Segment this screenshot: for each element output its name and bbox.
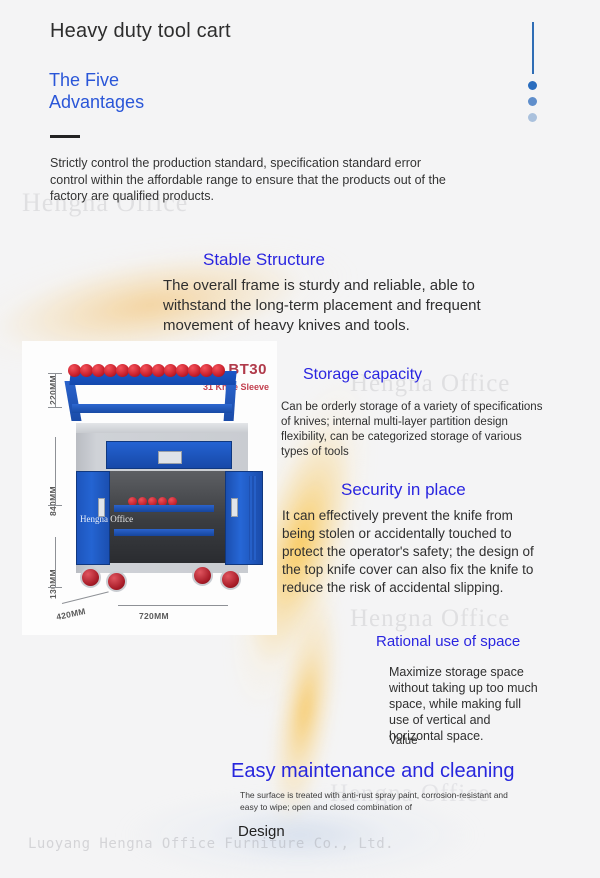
tool-cart-illustration: Hengna Office	[62, 371, 252, 601]
title-divider	[50, 135, 80, 138]
door-brand-text: Hengna Office	[80, 514, 133, 524]
dimension-label-width: 720MM	[139, 611, 169, 621]
intro-text: Strictly control the production standard…	[50, 155, 460, 205]
section-body-stable-structure: The overall frame is sturdy and reliable…	[163, 276, 515, 336]
section-body-easy-maintenance: The surface is treated with anti-rust sp…	[240, 790, 525, 813]
knife-sleeve-icon	[212, 364, 225, 377]
dimension-tick	[48, 505, 62, 506]
caster-wheel	[106, 571, 127, 592]
vertical-line-icon	[532, 22, 534, 74]
dimension-label-cabinet-height: 840MM	[48, 486, 58, 516]
caster-wheel	[80, 567, 101, 588]
drawer-handle	[158, 451, 182, 464]
rack-leg	[224, 381, 237, 421]
infographic-page: Hengna Office Hengna Office Hengna Offic…	[0, 0, 600, 878]
cart-drawer	[106, 441, 232, 469]
decorative-dots-group	[528, 22, 537, 122]
subtitle-line-2: Advantages	[49, 91, 144, 113]
dimension-tick	[48, 373, 62, 374]
dimension-tick	[48, 587, 62, 588]
cabinet-door-right	[225, 471, 263, 565]
watermark: Hengna Office	[350, 605, 510, 633]
dimension-tick	[48, 407, 62, 408]
section-heading-storage-capacity: Storage capacity	[303, 366, 422, 384]
cabinet-shelf	[114, 505, 214, 512]
dimension-line	[118, 605, 228, 606]
section-body-security-in-place: It can effectively prevent the knife fro…	[282, 507, 547, 597]
door-handle	[231, 498, 238, 517]
section-body-rational-use-of-space: Maximize storage space without taking up…	[389, 664, 539, 744]
section-heading-easy-maintenance: Easy maintenance and cleaning	[231, 760, 515, 783]
section-heading-security-in-place: Security in place	[341, 480, 466, 500]
page-title: Heavy duty tool cart	[50, 20, 231, 43]
dot-icon	[528, 81, 537, 90]
dimension-line	[55, 537, 56, 587]
dimension-line	[55, 373, 56, 407]
dimension-label-base-height: 130MM	[48, 569, 58, 599]
subtitle-line-1: The Five	[49, 69, 144, 91]
caster-wheel	[220, 569, 241, 590]
dot-icon	[528, 97, 537, 106]
product-image: Hengna Office Hengna Office BT30 31 Knif…	[22, 341, 277, 635]
section-extra-design: Design	[238, 823, 285, 840]
dimension-label-depth: 420MM	[55, 606, 86, 622]
caster-wheel	[192, 565, 213, 586]
section-heading-rational-use-of-space: Rational use of space	[376, 633, 520, 650]
footer-watermark: Luoyang Hengna Office Furniture Co., Ltd…	[28, 836, 394, 852]
section-extra-value: Value	[389, 735, 418, 747]
dimension-label-top-height: 220MM	[48, 375, 58, 405]
knife-sleeve-row	[68, 364, 238, 378]
rack-leg	[64, 381, 81, 421]
page-subtitle: The Five Advantages	[49, 69, 144, 113]
cabinet-shelf	[114, 529, 214, 536]
dot-icon	[528, 113, 537, 122]
section-heading-stable-structure: Stable Structure	[203, 250, 325, 270]
section-body-storage-capacity: Can be orderly storage of a variety of s…	[281, 400, 543, 460]
dimension-line	[55, 437, 56, 505]
rack-bar	[72, 404, 232, 413]
